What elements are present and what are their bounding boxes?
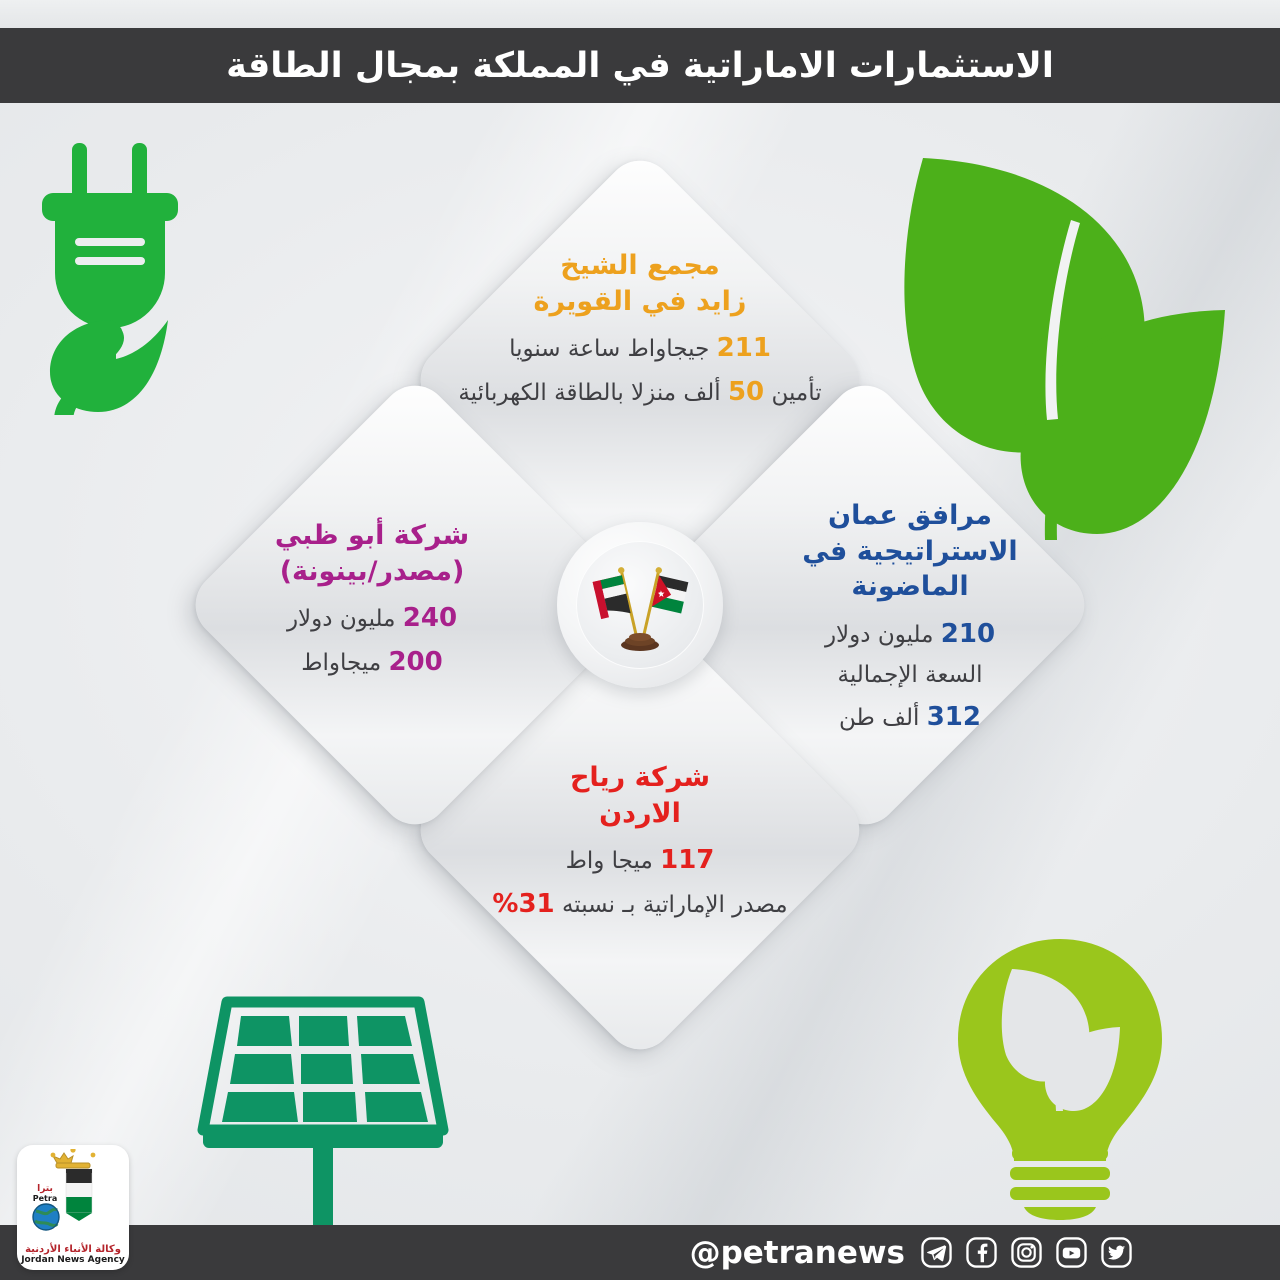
medallion-inner: [576, 541, 704, 669]
card-value-top-1: 211: [717, 333, 771, 363]
petra-logo-mark: بترا Petra: [24, 1149, 122, 1245]
card-prefix-top-2: تأمين: [771, 380, 821, 406]
card-title-right-line1: مرافق عمان: [760, 498, 1060, 534]
petra-logo: بترا Petra وكالة الأنباء الأردنية Jordan…: [17, 1145, 129, 1270]
card-title-right-line3: الماضونة: [760, 569, 1060, 605]
center-medallion: [557, 522, 723, 688]
card-label-left-1: مليون دولار: [287, 606, 396, 632]
card-title-left: شركة أبو ظبي (مصدر/بينونة): [222, 518, 522, 589]
card-line-top-2: تأمين 50 ألف منزلا بالطاقة الكهربائية: [438, 375, 842, 409]
card-value-bottom-2: 31%: [492, 889, 554, 919]
card-title-top-line1: مجمع الشيخ: [438, 248, 842, 284]
card-label-right-1: مليون دولار: [825, 622, 934, 648]
eco-plug-icon: [28, 135, 198, 419]
card-label-top-1: جيجاواط ساعة سنويا: [509, 336, 709, 362]
card-line-right-3: 312 ألف طن: [760, 700, 1060, 734]
card-line-bottom-1: 117 ميجا واط: [448, 843, 832, 877]
card-line-right-2: السعة الإجمالية: [760, 660, 1060, 690]
card-label-right-3: ألف طن: [839, 705, 919, 731]
svg-text:Petra: Petra: [33, 1194, 57, 1203]
top-strip: [0, 0, 1280, 28]
card-value-bottom-1: 117: [660, 845, 714, 875]
card-line-left-1: 240 مليون دولار: [222, 601, 522, 635]
card-title-top-line2: زايد في القويرة: [438, 284, 842, 320]
card-value-left-1: 240: [403, 603, 457, 633]
card-title-bottom-line2: الاردن: [448, 796, 832, 832]
card-line-right-1: 210 مليون دولار: [760, 617, 1060, 651]
card-label-top-2: ألف منزلا بالطاقة الكهربائية: [458, 380, 720, 406]
facebook-icon[interactable]: [966, 1237, 997, 1268]
card-prefix-bottom-2: مصدر الإماراتية بـ نسبته: [562, 892, 788, 918]
logo-agency-ar: وكالة الأنباء الأردنية: [25, 1245, 121, 1255]
instagram-icon[interactable]: [1011, 1237, 1042, 1268]
card-text-left: شركة أبو ظبي (مصدر/بينونة) 240 مليون دول…: [222, 518, 522, 679]
twitter-icon[interactable]: [1101, 1237, 1132, 1268]
uae-jordan-desk-flags-icon: [584, 549, 696, 661]
page-title: الاستثمارات الاماراتية في المملكة بمجال …: [226, 46, 1054, 86]
card-label-left-2: ميجاواط: [301, 650, 381, 676]
card-text-right: مرافق عمان الاستراتيجية في الماضونة 210 …: [760, 498, 1060, 734]
social-links: [921, 1237, 1132, 1268]
card-line-bottom-2: مصدر الإماراتية بـ نسبته 31%: [448, 887, 832, 921]
solar-panel-icon: [195, 990, 450, 1234]
youtube-icon[interactable]: [1056, 1237, 1087, 1268]
card-value-left-2: 200: [388, 647, 442, 677]
card-value-right-3: 312: [927, 702, 981, 732]
card-title-bottom: شركة رياح الاردن: [448, 760, 832, 831]
card-text-bottom: شركة رياح الاردن 117 ميجا واط مصدر الإما…: [448, 760, 832, 921]
telegram-icon[interactable]: [921, 1237, 952, 1268]
svg-text:بترا: بترا: [37, 1184, 53, 1194]
card-label-bottom-1: ميجا واط: [566, 848, 653, 874]
card-title-left-line2: (مصدر/بينونة): [222, 554, 522, 590]
card-line-left-2: 200 ميجاواط: [222, 645, 522, 679]
card-label-right-2: السعة الإجمالية: [838, 662, 983, 688]
card-title-left-line1: شركة أبو ظبي: [222, 518, 522, 554]
card-title-right-line2: الاستراتيجية في: [760, 534, 1060, 570]
card-title-right: مرافق عمان الاستراتيجية في الماضونة: [760, 498, 1060, 605]
card-text-top: مجمع الشيخ زايد في القويرة 211 جيجاواط س…: [438, 248, 842, 409]
header-bar: الاستثمارات الاماراتية في المملكة بمجال …: [0, 28, 1280, 103]
logo-agency-en: Jordan News Agency: [21, 1255, 125, 1265]
petra-handle[interactable]: @petranews: [690, 1235, 905, 1271]
eco-lightbulb-icon: [950, 935, 1170, 1224]
footer-bar: @petranews: [0, 1225, 1280, 1280]
card-title-bottom-line1: شركة رياح: [448, 760, 832, 796]
infographic-poster: الاستثمارات الاماراتية في المملكة بمجال …: [0, 0, 1280, 1280]
card-value-top-2: 50: [728, 377, 764, 407]
card-title-top: مجمع الشيخ زايد في القويرة: [438, 248, 842, 319]
card-line-top-1: 211 جيجاواط ساعة سنويا: [438, 331, 842, 365]
card-value-right-1: 210: [941, 619, 995, 649]
